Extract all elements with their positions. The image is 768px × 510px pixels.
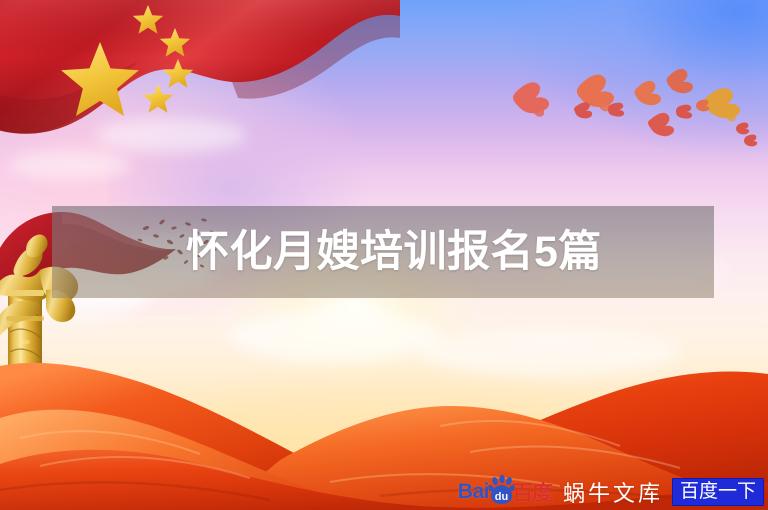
page-title: 怀化月嫂培训报名5篇 <box>186 231 602 274</box>
dove-flock-icon <box>486 44 768 164</box>
baidu-chinese-text: 百度 <box>512 477 552 507</box>
baidu-paw-icon: du <box>488 479 515 505</box>
title-banner: 怀化月嫂培训报名5篇 <box>52 206 714 298</box>
site-name-label: 蜗牛文库 <box>563 476 663 508</box>
baidu-search-button[interactable]: 百度一下 <box>672 478 764 507</box>
svg-text:du: du <box>495 491 508 503</box>
baidu-logo[interactable]: Bai du 百度 <box>458 479 552 505</box>
china-flag-icon <box>0 0 400 166</box>
baidu-bai-text: Bai <box>458 480 489 504</box>
banner-image: 怀化月嫂培训报名5篇 Bai du 百度 <box>0 0 768 510</box>
watermark-bar: Bai du 百度 蜗牛文库 百度一下 <box>458 477 764 507</box>
